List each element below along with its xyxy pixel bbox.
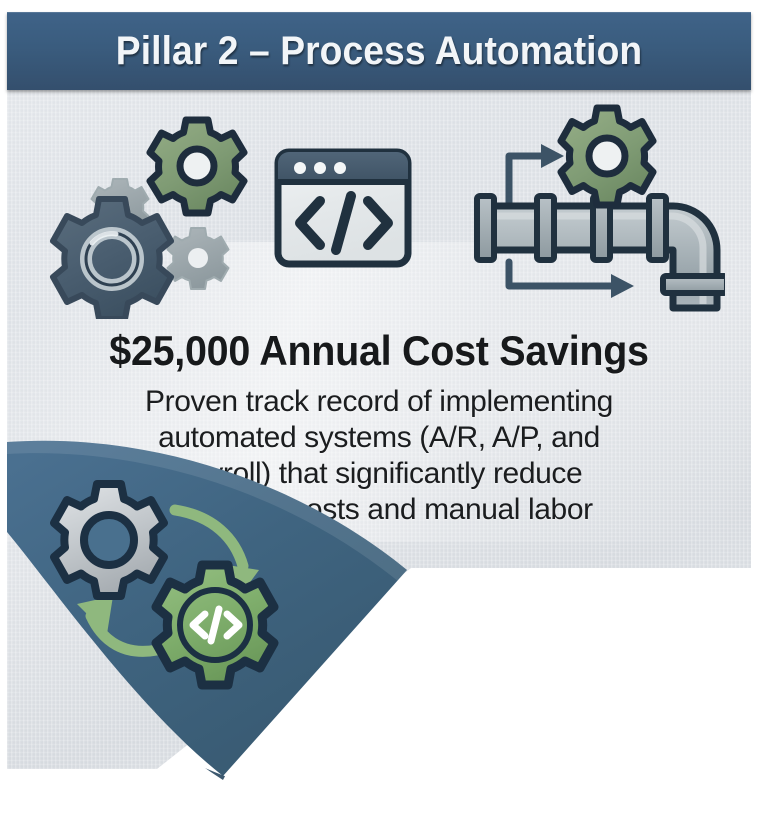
gear-green — [150, 120, 244, 213]
headline: $25,000 Annual Cost Savings — [29, 330, 728, 372]
gear-cluster-icon — [42, 104, 272, 324]
code-window-icon — [272, 144, 416, 279]
badge-gear-silver — [54, 484, 164, 596]
window-dot — [314, 162, 326, 174]
pipe-flange — [477, 196, 494, 260]
automation-cycle-badge — [7, 420, 427, 780]
window-dot — [334, 162, 346, 174]
pipeline-arrowhead-up — [541, 144, 564, 168]
pipe-flange — [663, 276, 725, 293]
header-banner: Pillar 2 – Process Automation — [7, 12, 751, 90]
pipeline-icon — [465, 98, 725, 323]
infographic-card: Pillar 2 – Process Automation — [0, 0, 766, 820]
pipeline-arrowhead-down — [611, 274, 634, 298]
window-dot — [294, 162, 306, 174]
badge-gear-code — [156, 565, 274, 685]
body-line: Proven track record of implementing — [129, 384, 629, 420]
pipe-flange — [537, 196, 554, 260]
pipe-flange — [649, 196, 666, 260]
gear-large-slate — [53, 199, 171, 319]
icon-row — [7, 96, 751, 316]
pipeline-arrow-down — [509, 262, 615, 286]
page-title: Pillar 2 – Process Automation — [116, 29, 642, 74]
gear-small-right — [168, 228, 229, 289]
pipeline-gear — [561, 108, 653, 205]
